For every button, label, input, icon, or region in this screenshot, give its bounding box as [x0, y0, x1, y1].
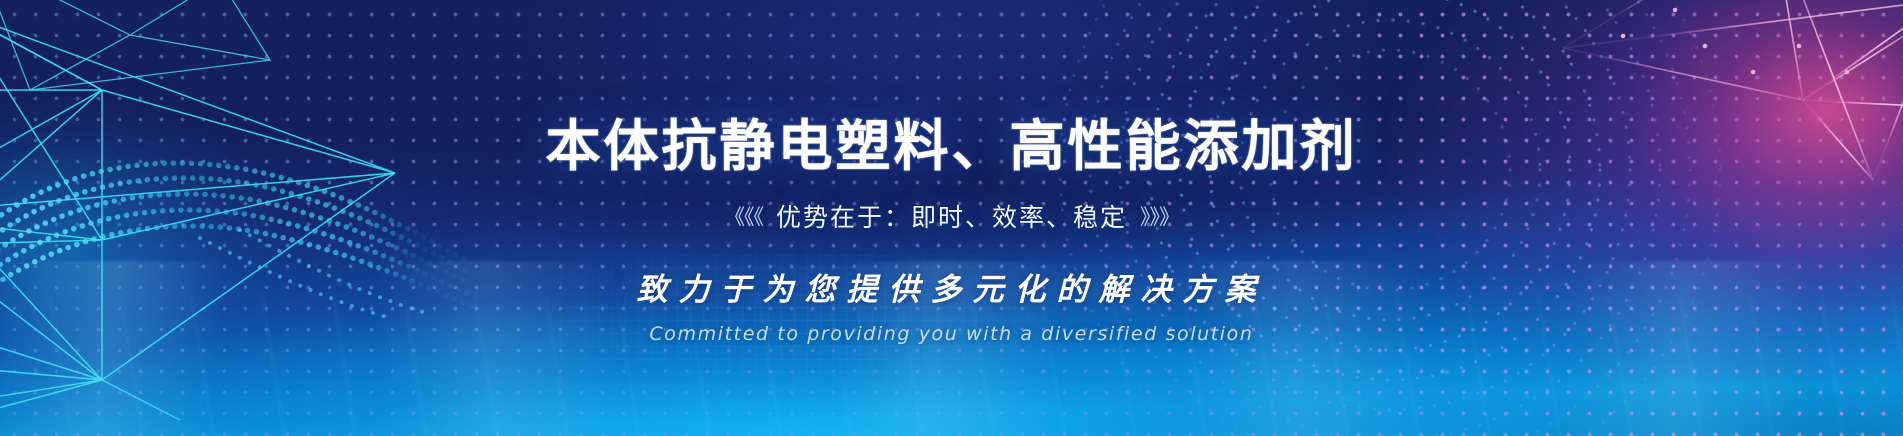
- chevron-left-icon: 《《《: [724, 201, 763, 231]
- banner-tagline-english: Committed to providing you with a divers…: [649, 323, 1253, 345]
- banner-tagline-chinese: 致力于为您提供多元化的解决方案: [637, 264, 1267, 309]
- banner-subtitle: 优势在于：即时、效率、稳定: [776, 198, 1127, 234]
- banner-headline: 本体抗静电塑料、高性能添加剂: [545, 118, 1357, 176]
- hero-banner: 本体抗静电塑料、高性能添加剂 《《《 优势在于：即时、效率、稳定 》》》 致力于…: [0, 0, 1903, 436]
- banner-content: 本体抗静电塑料、高性能添加剂 《《《 优势在于：即时、效率、稳定 》》》 致力于…: [0, 0, 1903, 436]
- chevron-right-icon: 》》》: [1140, 201, 1179, 231]
- banner-subtitle-row: 《《《 优势在于：即时、效率、稳定 》》》: [724, 198, 1179, 234]
